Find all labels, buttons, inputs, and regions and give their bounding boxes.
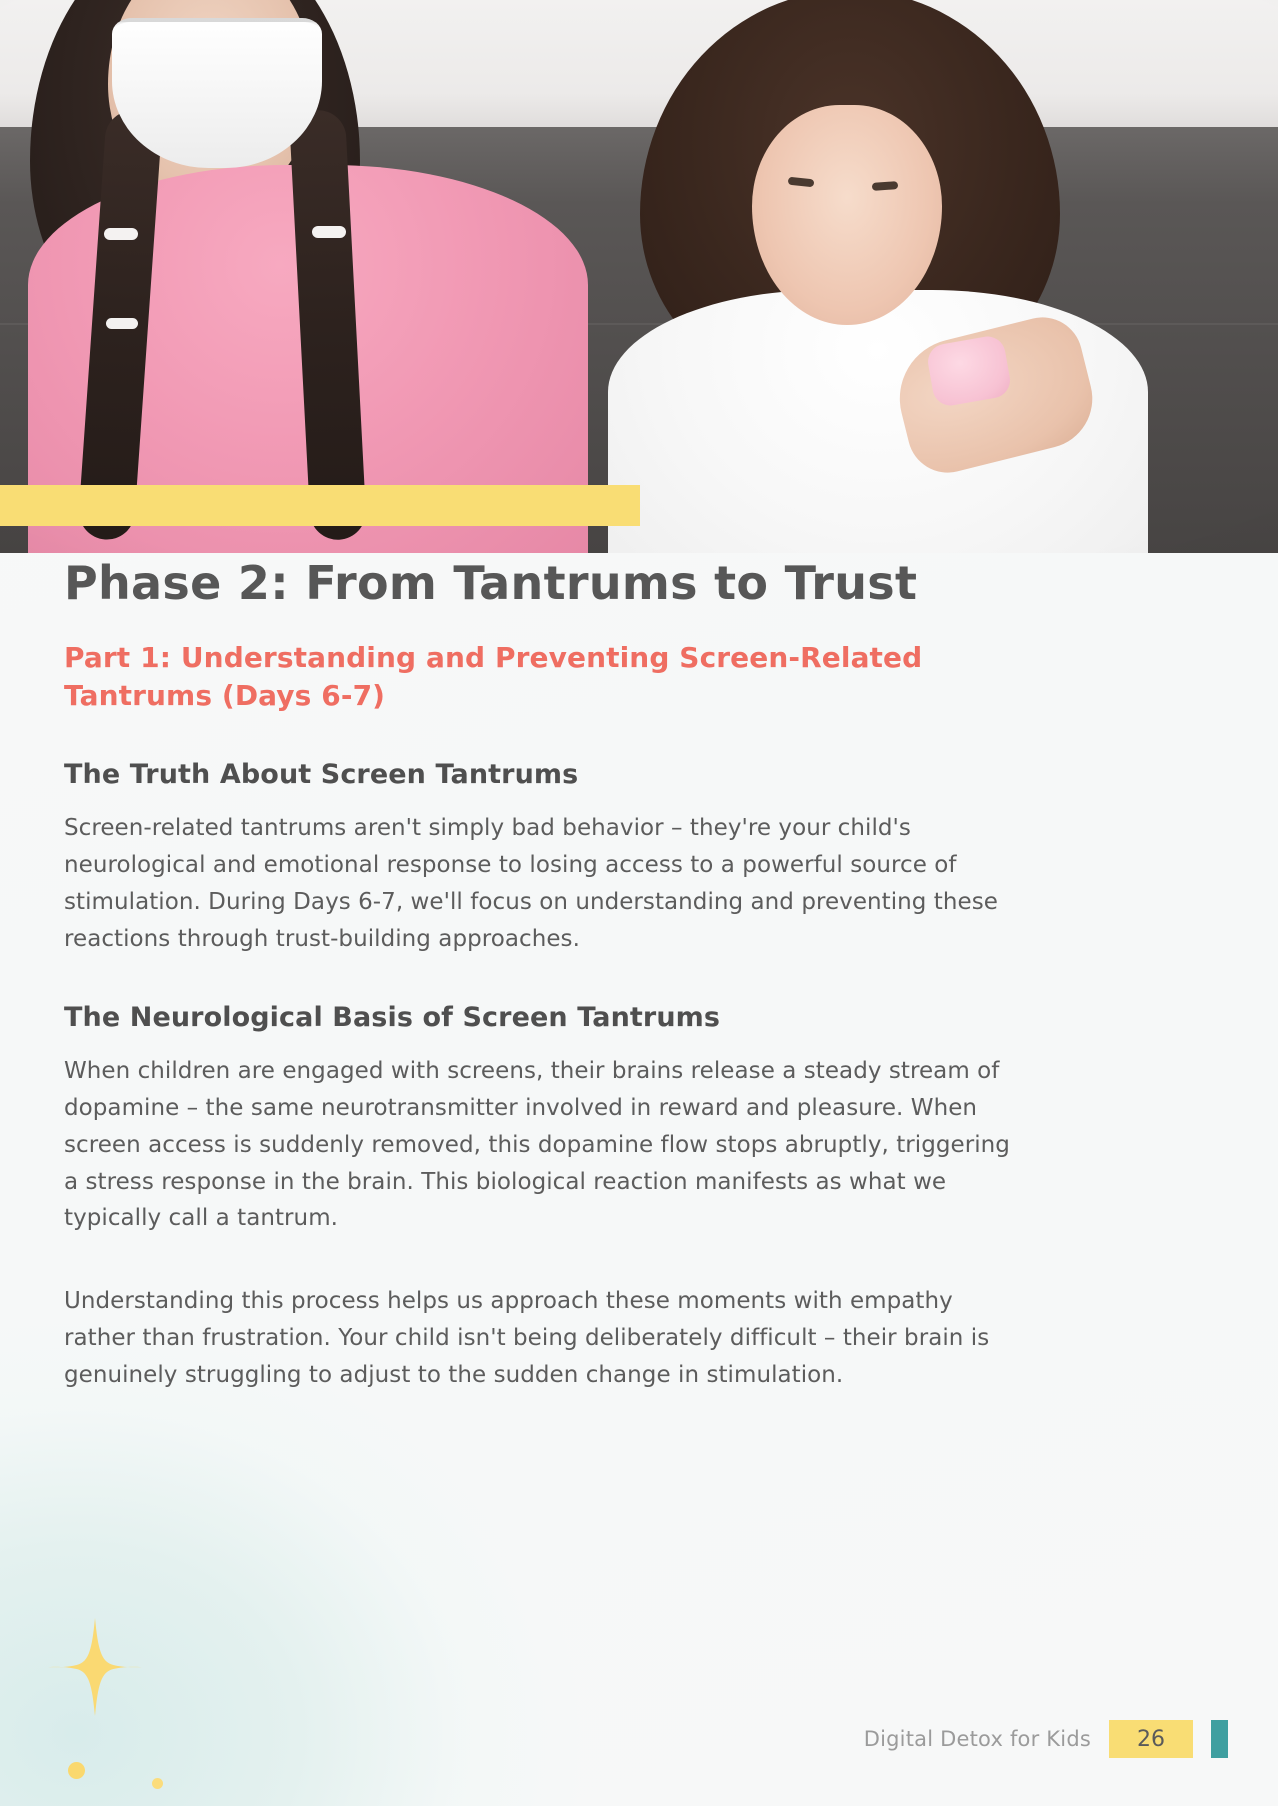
sparkle-icon xyxy=(44,1616,146,1718)
content-column: Phase 2: From Tantrums to Trust Part 1: … xyxy=(64,553,1016,1394)
teal-accent-tab xyxy=(1211,1720,1228,1758)
page-footer: Digital Detox for Kids 26 xyxy=(864,1720,1228,1758)
document-page: Phase 2: From Tantrums to Trust Part 1: … xyxy=(0,0,1278,1806)
decorative-dot-small xyxy=(152,1778,163,1789)
page-number-badge: 26 xyxy=(1109,1720,1193,1758)
hero-vignette xyxy=(0,0,1278,553)
section-heading-truth-about-screen-tantrums: The Truth About Screen Tantrums xyxy=(64,758,1016,792)
paragraph-dopamine-response: When children are engaged with screens, … xyxy=(64,1053,1016,1237)
paragraph-empathy-approach: Understanding this process helps us appr… xyxy=(64,1283,1016,1393)
hero-photo xyxy=(0,0,1278,553)
paragraph-truth-about-screen-tantrums: Screen-related tantrums aren't simply ba… xyxy=(64,810,1016,957)
section-heading-neurological-basis: The Neurological Basis of Screen Tantrum… xyxy=(64,1001,1016,1035)
page-title: Phase 2: From Tantrums to Trust xyxy=(64,553,1016,609)
footer-book-label: Digital Detox for Kids xyxy=(864,1727,1091,1751)
decorative-dot-large xyxy=(68,1762,85,1779)
yellow-accent-bar xyxy=(0,485,640,526)
page-subtitle: Part 1: Understanding and Preventing Scr… xyxy=(64,639,944,714)
